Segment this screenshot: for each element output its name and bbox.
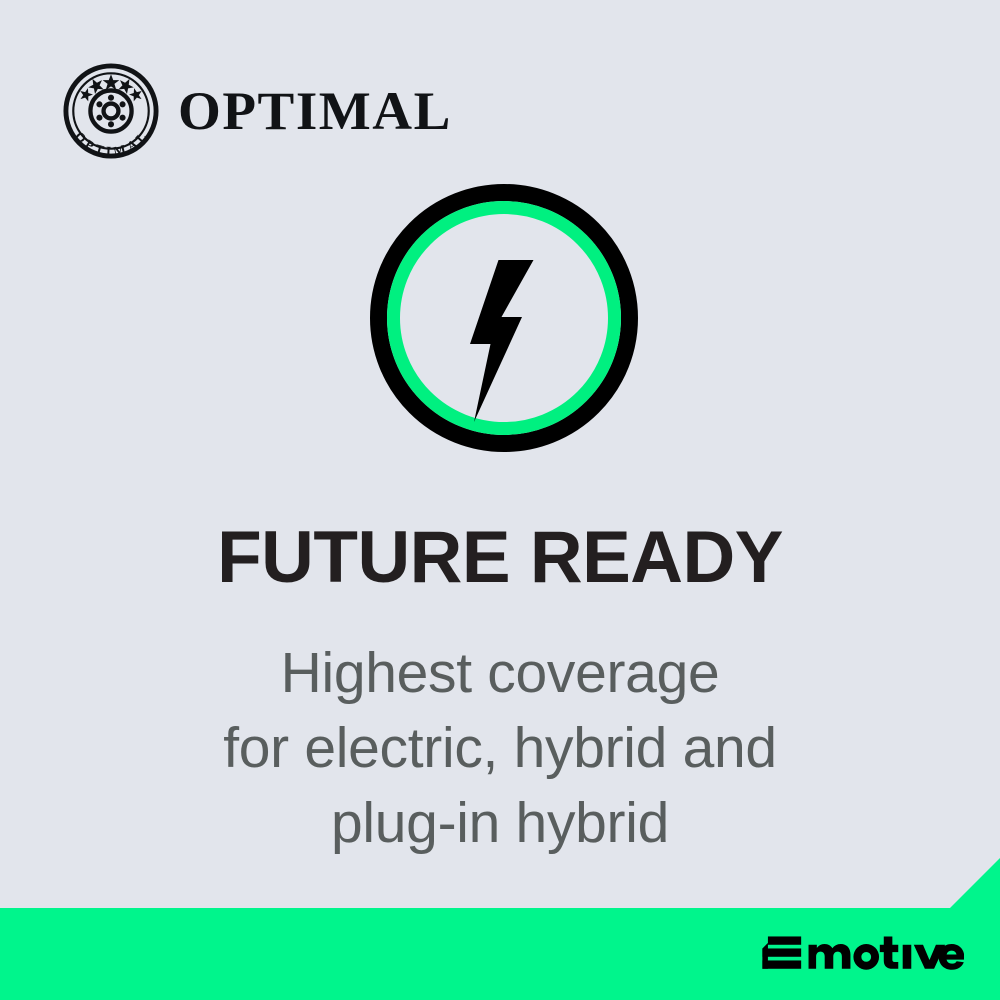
poster-canvas: OPTIMAL OPTIMAL	[0, 0, 1000, 1000]
brand-logo: OPTIMAL OPTIMAL	[62, 62, 447, 160]
subtitle-line: plug-in hybrid	[0, 786, 1000, 861]
brand-wordmark: OPTIMAL	[178, 84, 452, 138]
lightning-bolt-in-circle-icon	[370, 184, 638, 452]
subtitle-line: Highest coverage	[0, 636, 1000, 711]
footer-banner	[0, 856, 1000, 1000]
subtitle-block: Highest coverage for electric, hybrid an…	[0, 636, 1000, 861]
page-title: FUTURE READY	[0, 521, 1000, 594]
subtitle-line: for electric, hybrid and	[0, 711, 1000, 786]
emotive-wordmark-logo	[762, 930, 964, 978]
optimal-badge-icon: OPTIMAL	[62, 62, 160, 160]
